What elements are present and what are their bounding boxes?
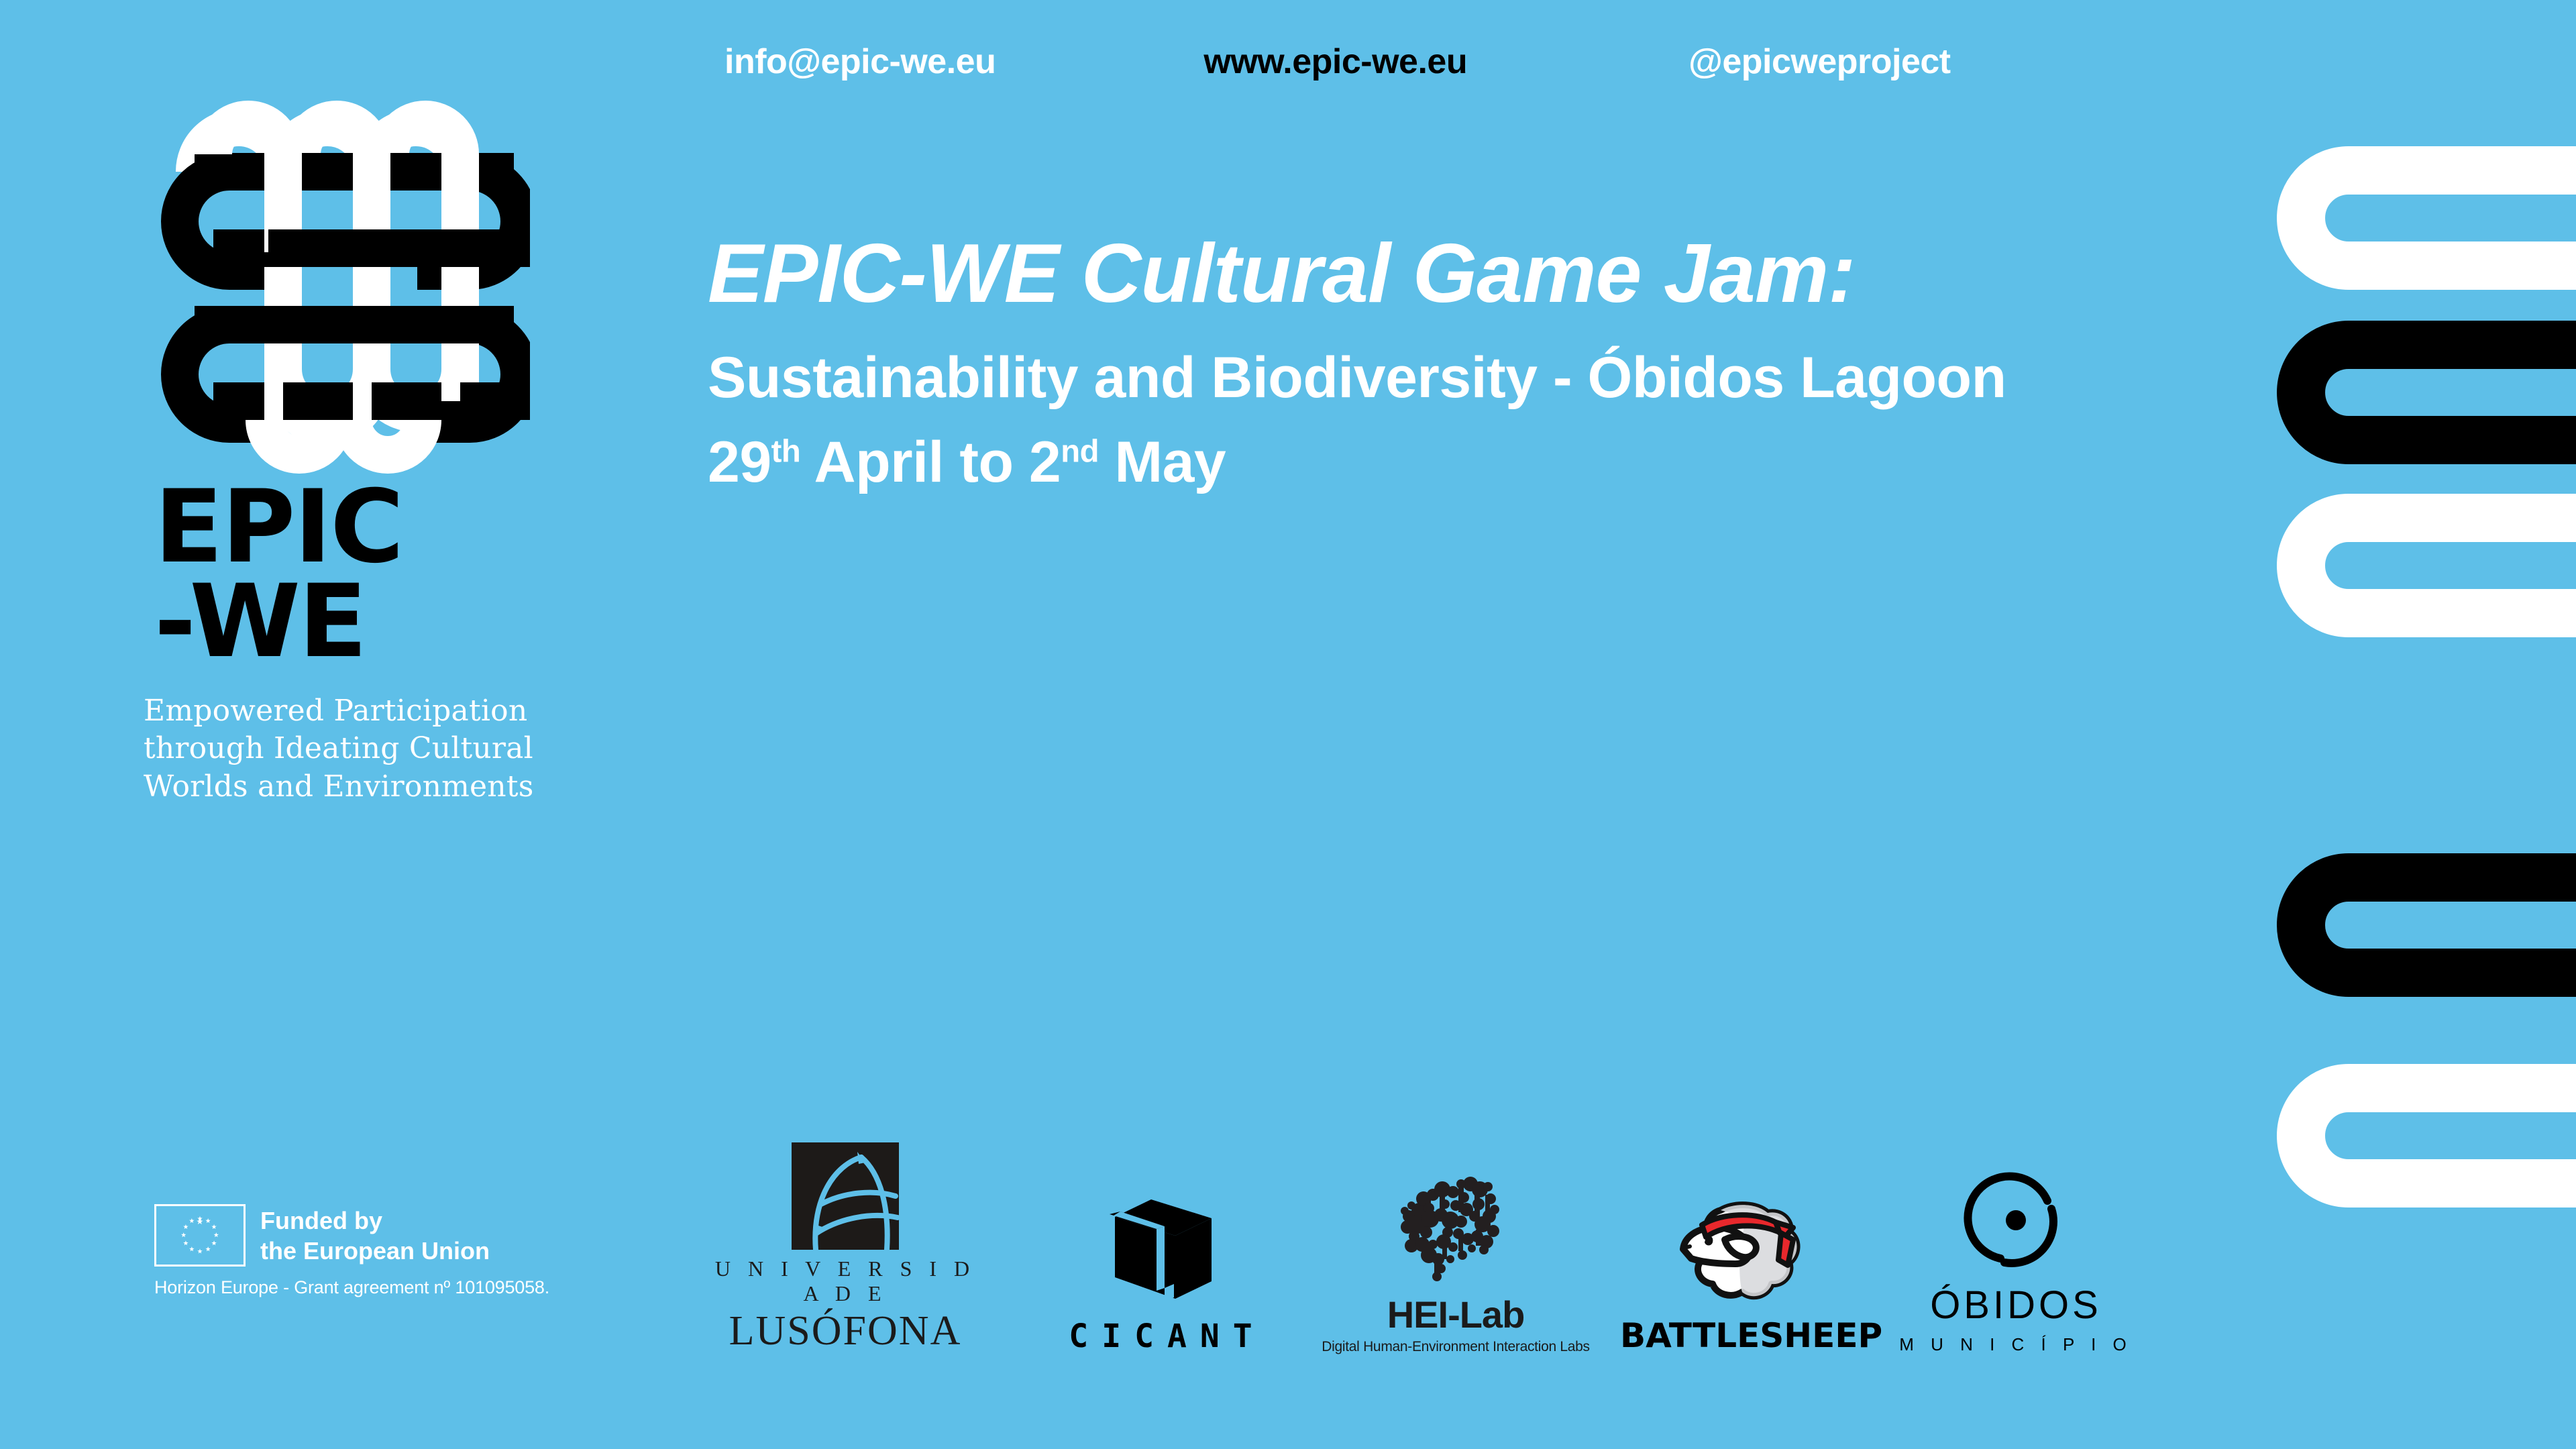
tagline-line-3: Worlds and Environments: [144, 768, 563, 806]
eu-funded-line-2: the European Union: [260, 1236, 490, 1266]
date-month-1: April to: [814, 430, 1029, 494]
partner-logo-lusofona[interactable]: U N I V E R S I D A D E LUSÓFONA: [711, 1142, 979, 1355]
lusofona-label-main: LUSÓFONA: [711, 1307, 979, 1355]
partner-logos-row: U N I V E R S I D A D E LUSÓFONA: [691, 1100, 2220, 1355]
contact-website[interactable]: www.epic-we.eu: [1203, 42, 1467, 82]
partner-logo-heilab[interactable]: HEI-Lab Digital Human-Environment Intera…: [1322, 1175, 1590, 1355]
contact-social-handle[interactable]: @epicweproject: [1688, 42, 1951, 82]
decorative-hook-5: [2301, 1088, 2576, 1183]
battlesheep-label: BATTLESHEEP: [1620, 1316, 1862, 1355]
date-day-2: 2: [1029, 430, 1061, 494]
date-day-2-suffix: nd: [1061, 433, 1099, 469]
celtic-knot-icon: [154, 87, 530, 476]
poster-canvas: info@epic-we.eu www.epic-we.eu @epicwepr…: [0, 0, 2576, 1449]
decorative-hook-2: [2301, 345, 2576, 440]
epic-we-wordmark: EPIC -WE: [154, 480, 563, 669]
page-subtitle: Sustainability and Biodiversity - Óbidos…: [708, 343, 2224, 413]
date-day-1-suffix: th: [771, 433, 801, 469]
wordmark-line-epic: EPIC: [154, 480, 563, 575]
page-title: EPIC-WE Cultural Game Jam:: [708, 228, 2224, 319]
event-dates: 29th April to 2nd May: [708, 428, 2224, 497]
tagline-line-1: Empowered Participation: [144, 692, 563, 730]
date-month-2: May: [1114, 430, 1226, 494]
contact-bar: info@epic-we.eu www.epic-we.eu @epicwepr…: [724, 35, 2200, 89]
heilab-sublabel: Digital Human-Environment Interaction La…: [1322, 1339, 1590, 1355]
eu-funded-text: Funded by the European Union: [260, 1205, 490, 1266]
tagline-line-2: through Ideating Cultural: [144, 730, 563, 767]
heilab-label: HEI-Lab: [1322, 1293, 1590, 1336]
decorative-hooks: [2227, 0, 2576, 1449]
eu-funded-line-1: Funded by: [260, 1205, 490, 1236]
decorative-hook-3: [2301, 518, 2576, 613]
decorative-hook-4: [2301, 877, 2576, 973]
partner-logo-obidos[interactable]: ÓBIDOS M U N I C Í P I O: [1895, 1163, 2137, 1355]
date-day-1: 29: [708, 430, 771, 494]
headings-block: EPIC-WE Cultural Game Jam: Sustainabilit…: [708, 228, 2224, 497]
epic-we-logo-block: EPIC -WE Empowered Participation through…: [134, 87, 563, 806]
dotted-brain-icon: [1389, 1175, 1523, 1289]
sheep-head-icon: [1674, 1198, 1808, 1312]
eu-funding-block: Funded by the European Union Horizon Eur…: [154, 1204, 664, 1298]
partner-logo-cicant[interactable]: CICANT: [1040, 1190, 1281, 1355]
wordmark-line-we: -WE: [154, 575, 563, 669]
decorative-hook-1: [2301, 170, 2576, 266]
eu-flag-icon: [154, 1204, 246, 1267]
obidos-label: ÓBIDOS: [1895, 1283, 2137, 1328]
broken-ring-icon: [1959, 1163, 2073, 1277]
obidos-sublabel: M U N I C Í P I O: [1895, 1334, 2137, 1355]
globe-square-icon: [792, 1142, 899, 1250]
partner-logo-battlesheep[interactable]: BATTLESHEEP: [1620, 1198, 1862, 1355]
logo-tagline: Empowered Participation through Ideating…: [144, 692, 563, 806]
contact-email[interactable]: info@epic-we.eu: [724, 42, 996, 82]
cicant-label: CICANT: [1040, 1318, 1281, 1355]
grant-agreement-text: Horizon Europe - Grant agreement nº 1010…: [154, 1277, 664, 1298]
lusofona-label-top: U N I V E R S I D A D E: [711, 1256, 979, 1306]
cube-icon: [1100, 1190, 1221, 1311]
